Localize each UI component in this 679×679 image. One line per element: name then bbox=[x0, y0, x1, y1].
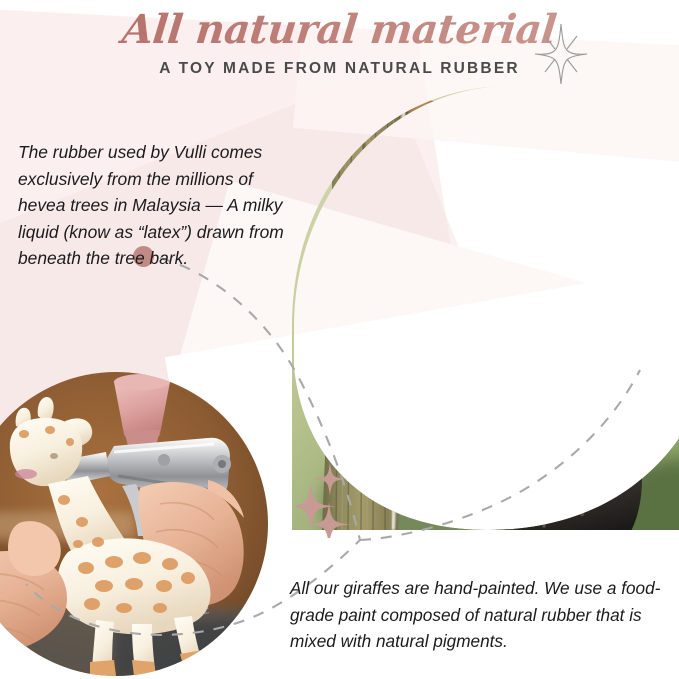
sparkle-small-icon bbox=[312, 462, 348, 496]
paragraph-hand-painted: All our giraffes are hand-painted. We us… bbox=[290, 575, 662, 655]
sparkle-outline-icon bbox=[533, 22, 589, 86]
infographic-page: All natural material A TOY MADE FROM NAT… bbox=[0, 0, 679, 679]
paragraph-rubber-source: The rubber used by Vulli comes exclusive… bbox=[18, 139, 290, 272]
image-giraffe-painting-artwork: FINEST FINISH bbox=[0, 372, 268, 676]
image-giraffe-painting: FINEST FINISH bbox=[0, 372, 268, 676]
sparkle-group bbox=[296, 458, 358, 538]
